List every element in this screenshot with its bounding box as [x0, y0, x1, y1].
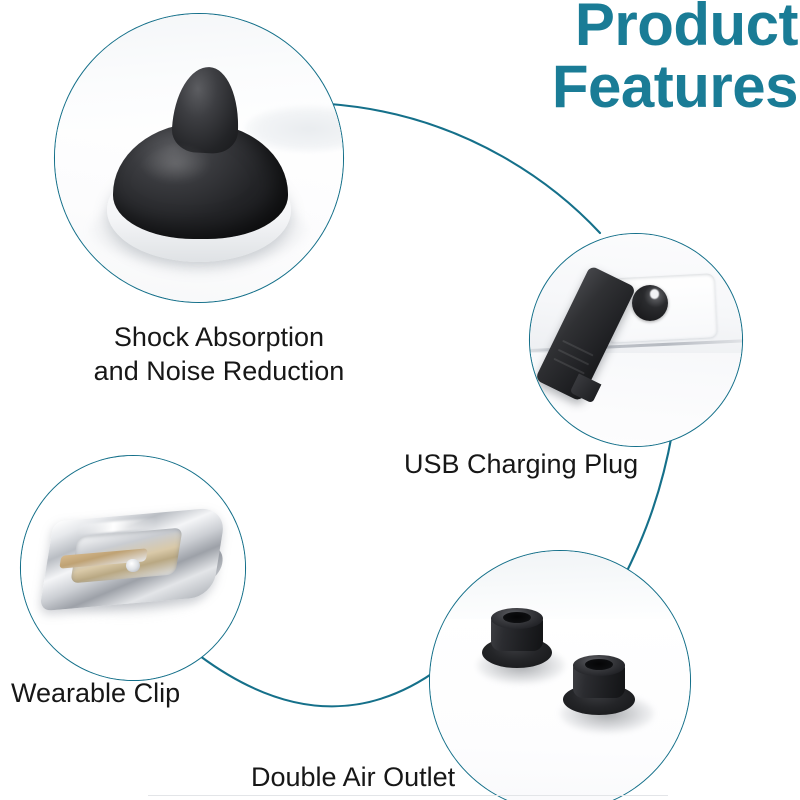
feature-image-usb-charging-plug — [530, 234, 742, 446]
caption-double-air-outlet: Double Air Outlet — [251, 760, 455, 794]
connector-line-shock-to-usb — [330, 104, 600, 233]
bottom-divider — [148, 795, 668, 796]
page-title-line-1: Product — [378, 0, 798, 56]
nozzle-opening-right — [585, 659, 614, 670]
caption-shock-absorption-line-2: and Noise Reduction — [74, 354, 364, 388]
feature-image-double-air-outlet — [430, 551, 690, 800]
charging-port-highlight — [650, 289, 660, 299]
page-title: Product Features — [378, 0, 798, 118]
caption-usb-charging-plug: USB Charging Plug — [404, 447, 638, 481]
caption-wearable-clip: Wearable Clip — [11, 676, 180, 710]
product-features-infographic: Product Features — [0, 0, 800, 800]
page-title-line-2: Features — [378, 56, 798, 118]
caption-shock-absorption: Shock Absorption and Noise Reduction — [74, 320, 364, 388]
clip-rivet — [126, 559, 139, 572]
air-background-upper — [430, 551, 690, 624]
caption-shock-absorption-line-1: Shock Absorption — [74, 320, 364, 354]
silicone-dome-highlight — [141, 144, 210, 184]
feature-image-shock-absorption — [55, 14, 343, 302]
feature-image-wearable-clip — [21, 456, 245, 680]
